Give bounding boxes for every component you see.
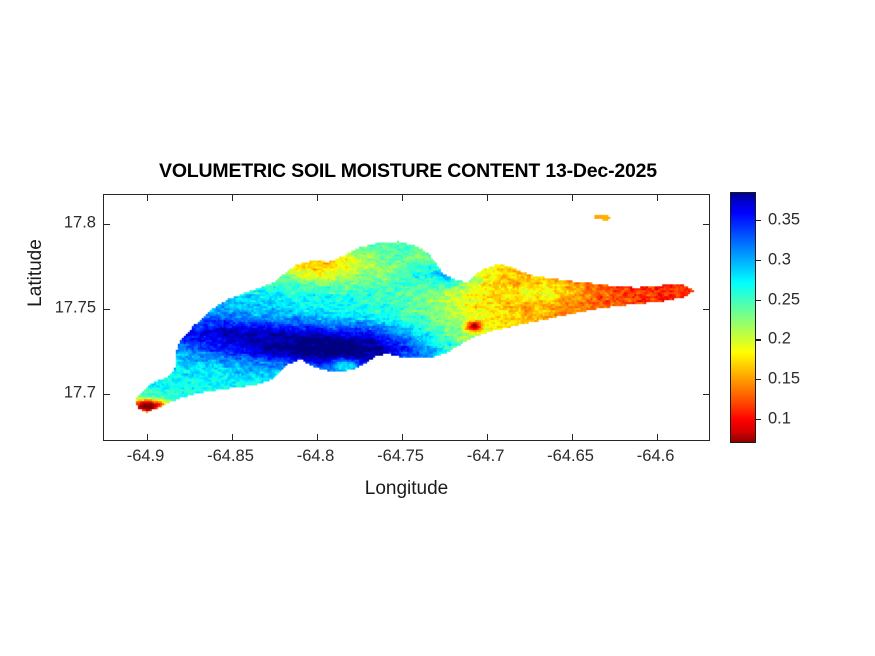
x-tick-label: -64.6 [637,447,675,466]
x-tick-mark [147,195,148,201]
x-tick-mark [487,434,488,440]
x-tick-label: -64.85 [207,447,254,466]
colorbar-tick-mark [756,220,761,221]
x-tick-label: -64.65 [547,447,594,466]
x-tick-mark [402,195,403,201]
colorbar-tick-label: 0.35 [768,210,800,229]
y-tick-label: 17.7 [16,384,96,403]
y-tick-label-layer: 17.717.7517.8 [8,0,96,656]
y-tick-mark [104,394,110,395]
colorbar-tick-mark [756,300,761,301]
colorbar-tick-mark [756,379,761,380]
colorbar-tick-label: 0.25 [768,290,800,309]
x-tick-label: -64.7 [467,447,505,466]
x-tick-mark [487,195,488,201]
x-tick-mark [657,195,658,201]
x-tick-label: -64.9 [127,447,165,466]
y-tick-mark [703,394,709,395]
x-tick-mark [232,434,233,440]
soil-moisture-heatmap[interactable] [104,195,709,440]
colorbar-tick-label: 0.2 [768,330,791,349]
x-axis-label: Longitude [103,478,710,500]
colorbar-tick-label: 0.1 [768,410,791,429]
x-tick-mark [402,434,403,440]
colorbar-group[interactable]: 0.10.150.20.250.30.35 [730,192,870,444]
colorbar-tick-mark [756,260,761,261]
y-tick-mark [104,309,110,310]
figure-canvas: VOLUMETRIC SOIL MOISTURE CONTENT 13-Dec-… [0,0,875,656]
x-tick-mark [572,195,573,201]
x-tick-label: -64.75 [377,447,424,466]
y-tick-mark [104,224,110,225]
colorbar-tick-label: 0.15 [768,370,800,389]
x-tick-mark [572,434,573,440]
y-tick-mark [703,309,709,310]
x-tick-mark [657,434,658,440]
x-tick-mark [147,434,148,440]
x-tick-label: -64.8 [297,447,335,466]
x-tick-mark [317,434,318,440]
colorbar-tick-label: 0.3 [768,250,791,269]
page-title: VOLUMETRIC SOIL MOISTURE CONTENT 13-Dec-… [103,160,713,183]
colorbar-tick-mark [756,339,761,340]
y-tick-mark [703,224,709,225]
colorbar-gradient[interactable] [730,192,756,443]
colorbar-tick-mark [756,419,761,420]
x-tick-mark [317,195,318,201]
y-axis-label: Latitude [25,213,47,333]
map-axes[interactable] [103,194,710,441]
x-tick-mark [232,195,233,201]
